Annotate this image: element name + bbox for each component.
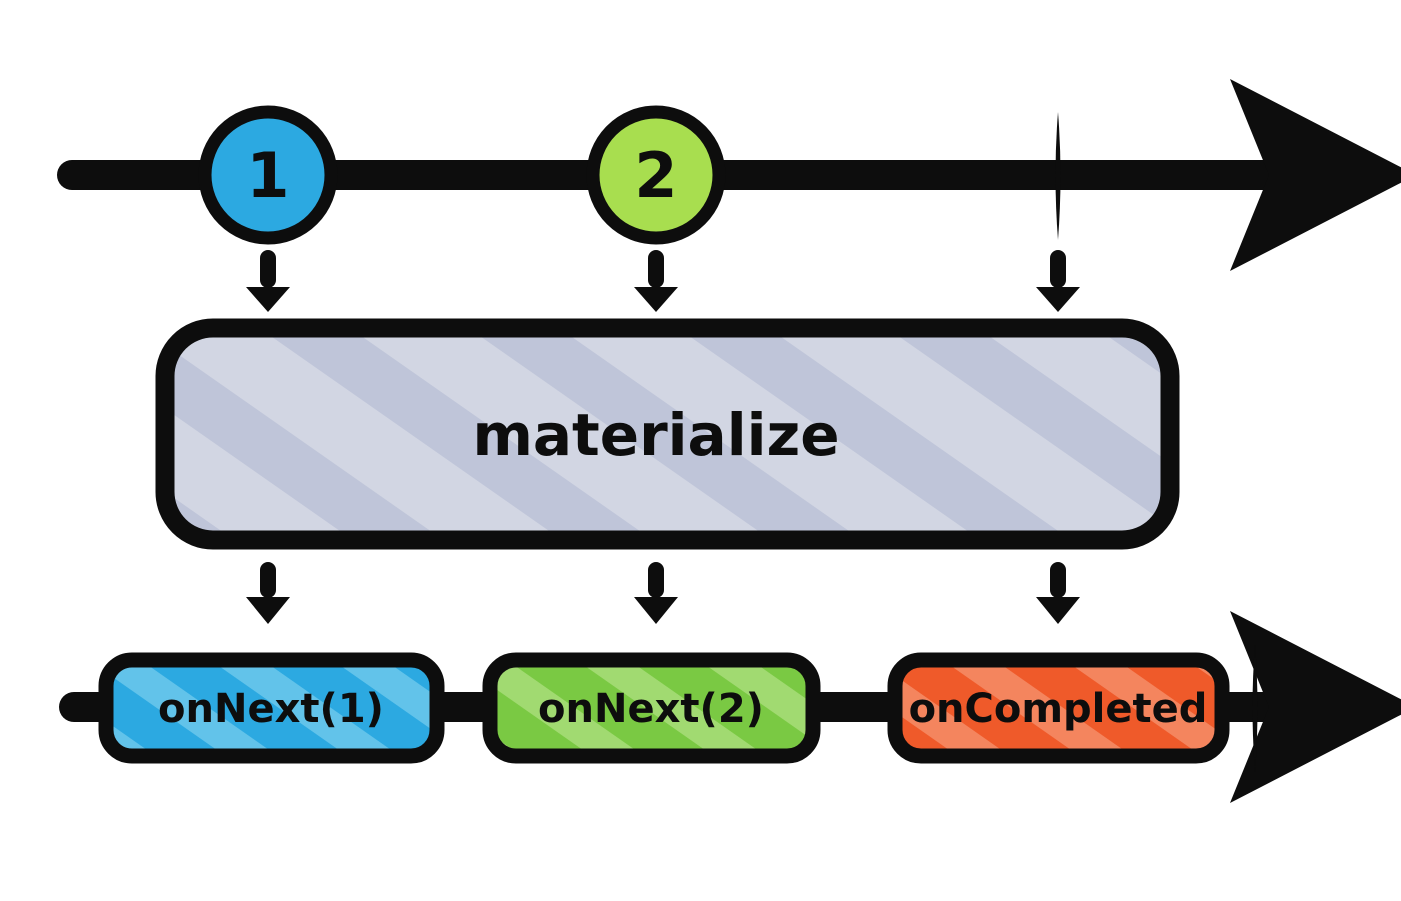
source-marble-2[interactable]: 2 — [593, 112, 719, 238]
operator-box[interactable]: materialize — [165, 328, 1170, 540]
notification-box-onnext-2[interactable]: onNext(2) — [490, 660, 813, 756]
source-completion-bar — [1056, 112, 1061, 240]
notification-label: onNext(2) — [538, 686, 764, 732]
dotted-arrow-out-1 — [246, 570, 290, 624]
result-completion-bar — [1253, 645, 1258, 772]
result-stream-group: onNext(1) onNext(2) onCompleted — [74, 645, 1290, 772]
marble-diagram-root: 1 2 materiali — [0, 0, 1401, 901]
connectors-to-operator — [246, 258, 1080, 312]
dotted-arrow-down-1 — [246, 258, 290, 312]
dotted-arrow-out-3 — [1036, 570, 1080, 624]
notification-box-onnext-1[interactable]: onNext(1) — [106, 660, 437, 756]
marble-label: 1 — [246, 139, 289, 212]
marble-label: 2 — [634, 139, 677, 212]
notification-box-oncompleted[interactable]: onCompleted — [895, 660, 1222, 756]
dotted-arrow-down-2 — [634, 258, 678, 312]
dotted-arrow-down-3 — [1036, 258, 1080, 312]
source-marble-1[interactable]: 1 — [205, 112, 331, 238]
notification-label: onCompleted — [909, 686, 1208, 732]
notification-label: onNext(1) — [158, 686, 384, 732]
operator-label: materialize — [472, 401, 839, 469]
dotted-arrow-out-2 — [634, 570, 678, 624]
source-stream-group: 1 2 — [72, 112, 1290, 240]
connectors-from-operator — [246, 570, 1080, 624]
marble-diagram-canvas: 1 2 materiali — [0, 0, 1401, 901]
